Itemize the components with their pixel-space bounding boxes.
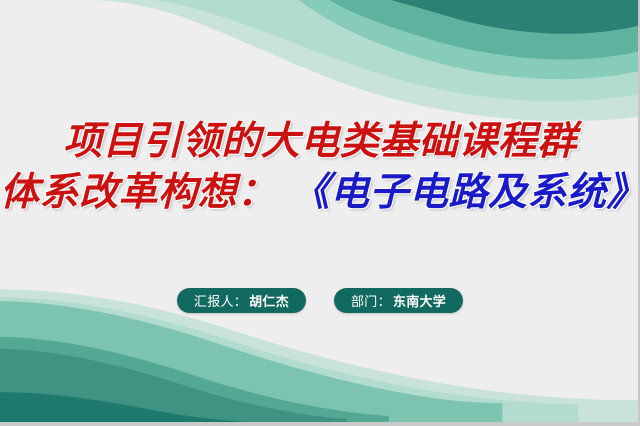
title-subtitle-text: 体系改革构想： — [0, 169, 277, 215]
title-slide: 项目引领的大电类基础课程群 体系改革构想：《电子电路及系统》 汇报人：胡仁杰 部… — [0, 0, 640, 426]
title-line-secondary: 体系改革构想：《电子电路及系统》 — [0, 173, 640, 212]
title-book-name: 《电子电路及系统》 — [291, 169, 640, 215]
presenter-badge: 汇报人：胡仁杰 — [177, 288, 306, 313]
presenter-label: 汇报人： — [194, 291, 247, 310]
title-line-primary: 项目引领的大电类基础课程群 — [0, 122, 640, 161]
department-name: 东南大学 — [393, 291, 446, 310]
department-label: 部门： — [351, 291, 391, 310]
slide-title: 项目引领的大电类基础课程群 体系改革构想：《电子电路及系统》 — [0, 122, 640, 212]
department-badge: 部门：东南大学 — [334, 288, 463, 313]
presenter-name: 胡仁杰 — [249, 291, 289, 310]
presenter-info-row: 汇报人：胡仁杰 部门：东南大学 — [0, 288, 640, 313]
